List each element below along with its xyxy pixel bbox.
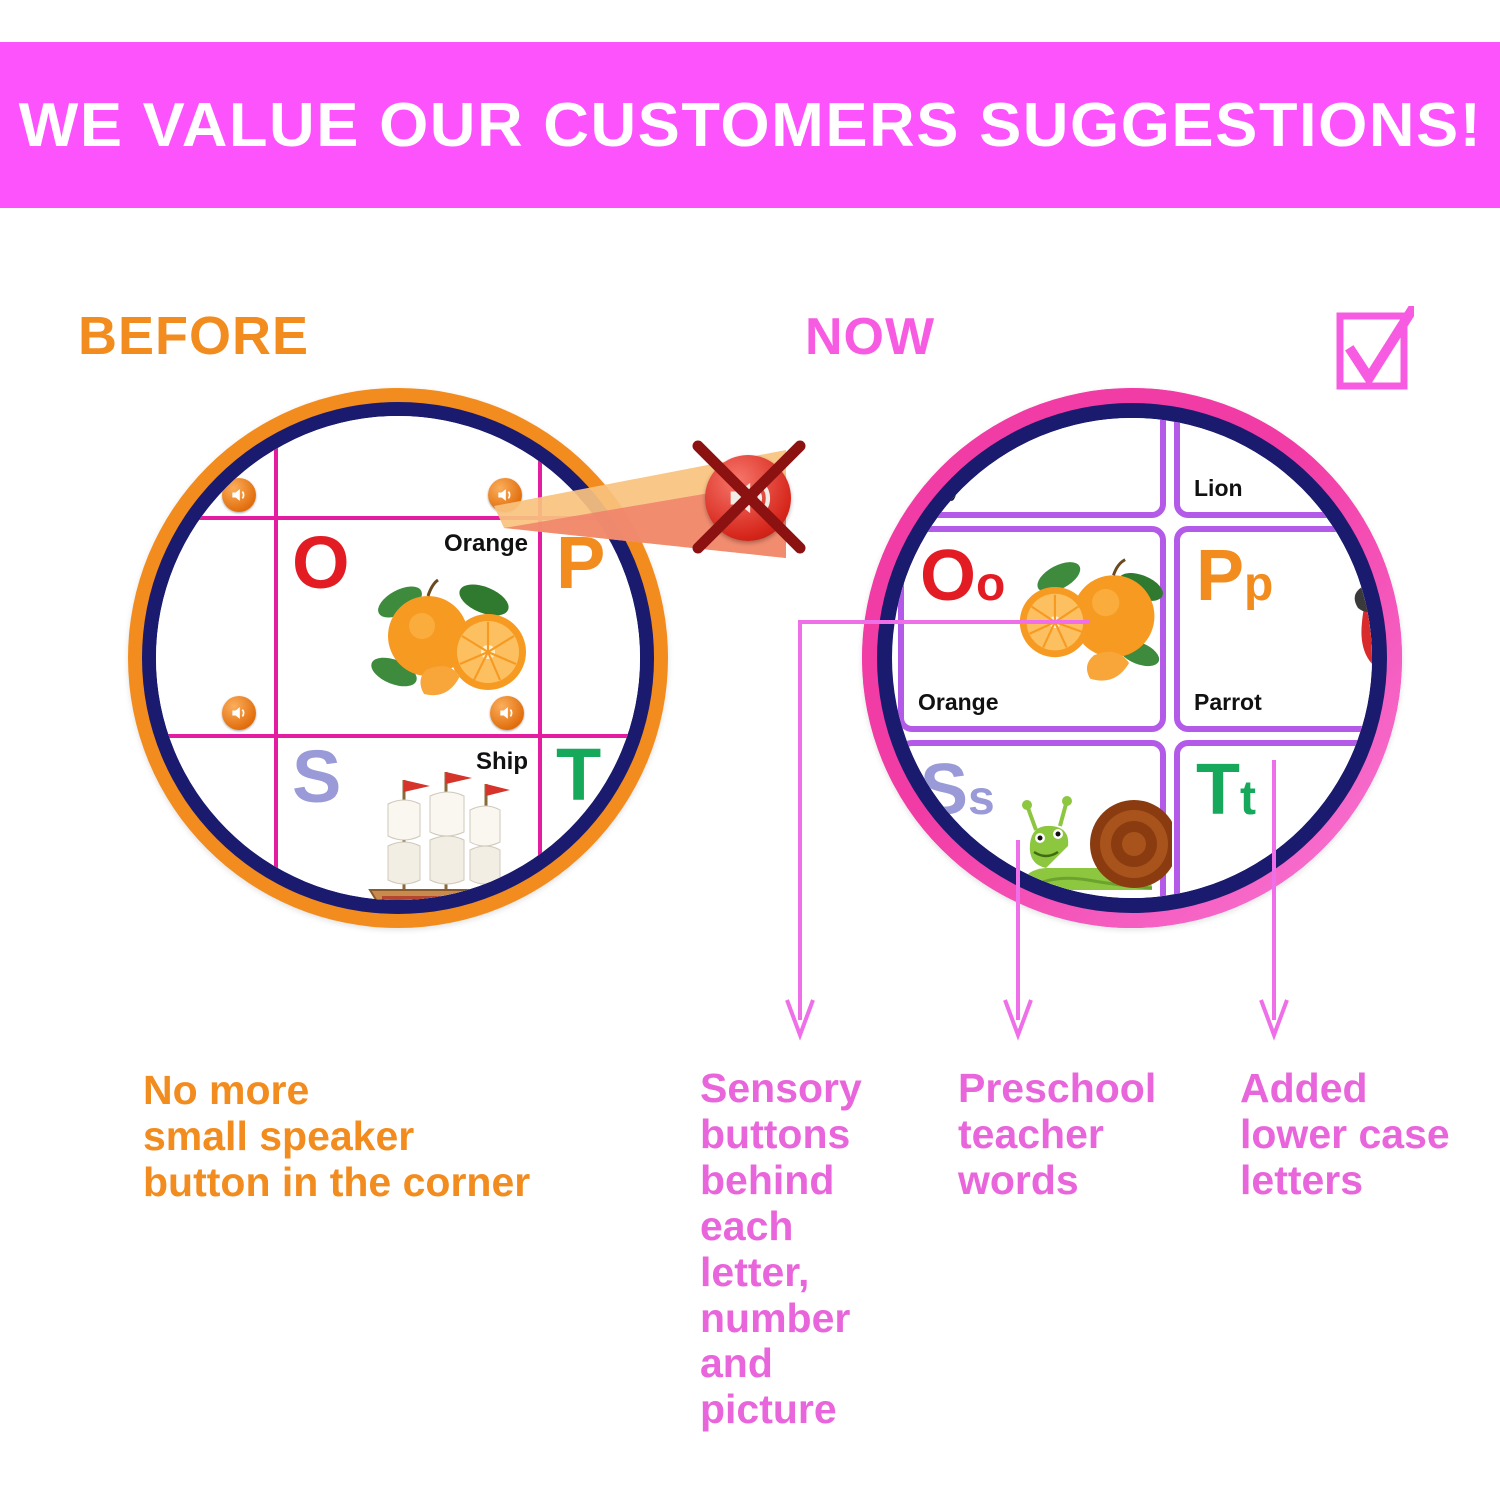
cell-letter-lower: p: [1244, 558, 1273, 611]
table-row: e: [156, 518, 276, 736]
speaker-icon: [229, 703, 249, 723]
rose-picture: [156, 550, 176, 700]
cell-letters: Ss: [920, 754, 995, 826]
now-heading: NOW: [805, 307, 935, 367]
cell-letters: Tt: [1196, 754, 1256, 826]
cell-letter-upper: P: [1196, 536, 1244, 616]
snail-picture: [1016, 790, 1172, 898]
now-grid-viewport: Kk Key Ll Lion Oo: [892, 418, 1372, 898]
table-row: Oo Orange: [898, 526, 1166, 732]
caption-sensory: Sensory buttons behind each letter, numb…: [700, 1066, 900, 1433]
cell-word: Parrot: [1194, 689, 1262, 716]
caption-added: Added lower case letters: [1240, 1066, 1475, 1204]
orange-fruit-picture: [1012, 550, 1172, 700]
table-row: st: [156, 416, 276, 518]
cell-letter-upper: T: [1196, 750, 1240, 830]
cell-letter: T: [556, 738, 601, 812]
nest-picture: [156, 416, 160, 498]
cell-letter-upper: S: [920, 750, 968, 830]
speaker-button[interactable]: [222, 696, 256, 730]
cell-letter-upper: O: [920, 536, 976, 616]
cell-letter: O: [292, 526, 350, 600]
cell-word: Orange: [918, 689, 999, 716]
speaker-button[interactable]: [490, 696, 524, 730]
now-circle: Kk Key Ll Lion Oo: [862, 388, 1402, 928]
table-row: Ll Lion: [1174, 418, 1372, 518]
speaker-icon: [497, 703, 517, 723]
infographic-canvas: WE VALUE OUR CUSTOMERS SUGGESTIONS! BEFO…: [0, 0, 1500, 1500]
table-row: Pp Parrot: [1174, 526, 1372, 732]
checkbox-checked-icon: [1336, 306, 1414, 394]
caption-before: No more small speaker button in the corn…: [143, 1068, 683, 1206]
table-row: S Ship: [276, 736, 540, 900]
cross-out-icon: [690, 438, 808, 556]
ship-picture: [362, 770, 530, 900]
table-row: T: [540, 736, 640, 900]
parrot-picture: [1334, 554, 1372, 712]
banner-title: WE VALUE OUR CUSTOMERS SUGGESTIONS!: [18, 90, 1482, 161]
cell-letter: S: [292, 740, 341, 814]
speaker-button[interactable]: [222, 478, 256, 512]
cell-letters: Oo: [920, 540, 1005, 612]
cell-letter-lower: o: [976, 558, 1005, 611]
key-picture: [1022, 418, 1162, 420]
caption-preschool: Preschool teacher words: [958, 1066, 1203, 1204]
table-row: Ss Snail: [898, 740, 1166, 898]
tiger-picture: [1356, 802, 1372, 898]
caption-before-line2: small speaker: [143, 1114, 683, 1160]
speaker-icon: [229, 485, 249, 505]
cell-word: Key: [918, 475, 960, 502]
cell-letter-lower: s: [968, 772, 995, 825]
caption-before-line1: No more: [143, 1068, 683, 1114]
cell-word: Lion: [1194, 475, 1243, 502]
table-row: [156, 736, 276, 900]
now-alphabet-grid: Kk Key Ll Lion Oo: [892, 418, 1372, 898]
cell-letter-lower: t: [1240, 772, 1256, 825]
before-heading: BEFORE: [78, 305, 309, 367]
table-row: Tt Tiger: [1174, 740, 1372, 898]
caption-before-line3: button in the corner: [143, 1160, 683, 1206]
header-banner: WE VALUE OUR CUSTOMERS SUGGESTIONS!: [0, 42, 1500, 208]
table-row: Kk Key: [898, 418, 1166, 518]
cell-letters: Pp: [1196, 540, 1273, 612]
